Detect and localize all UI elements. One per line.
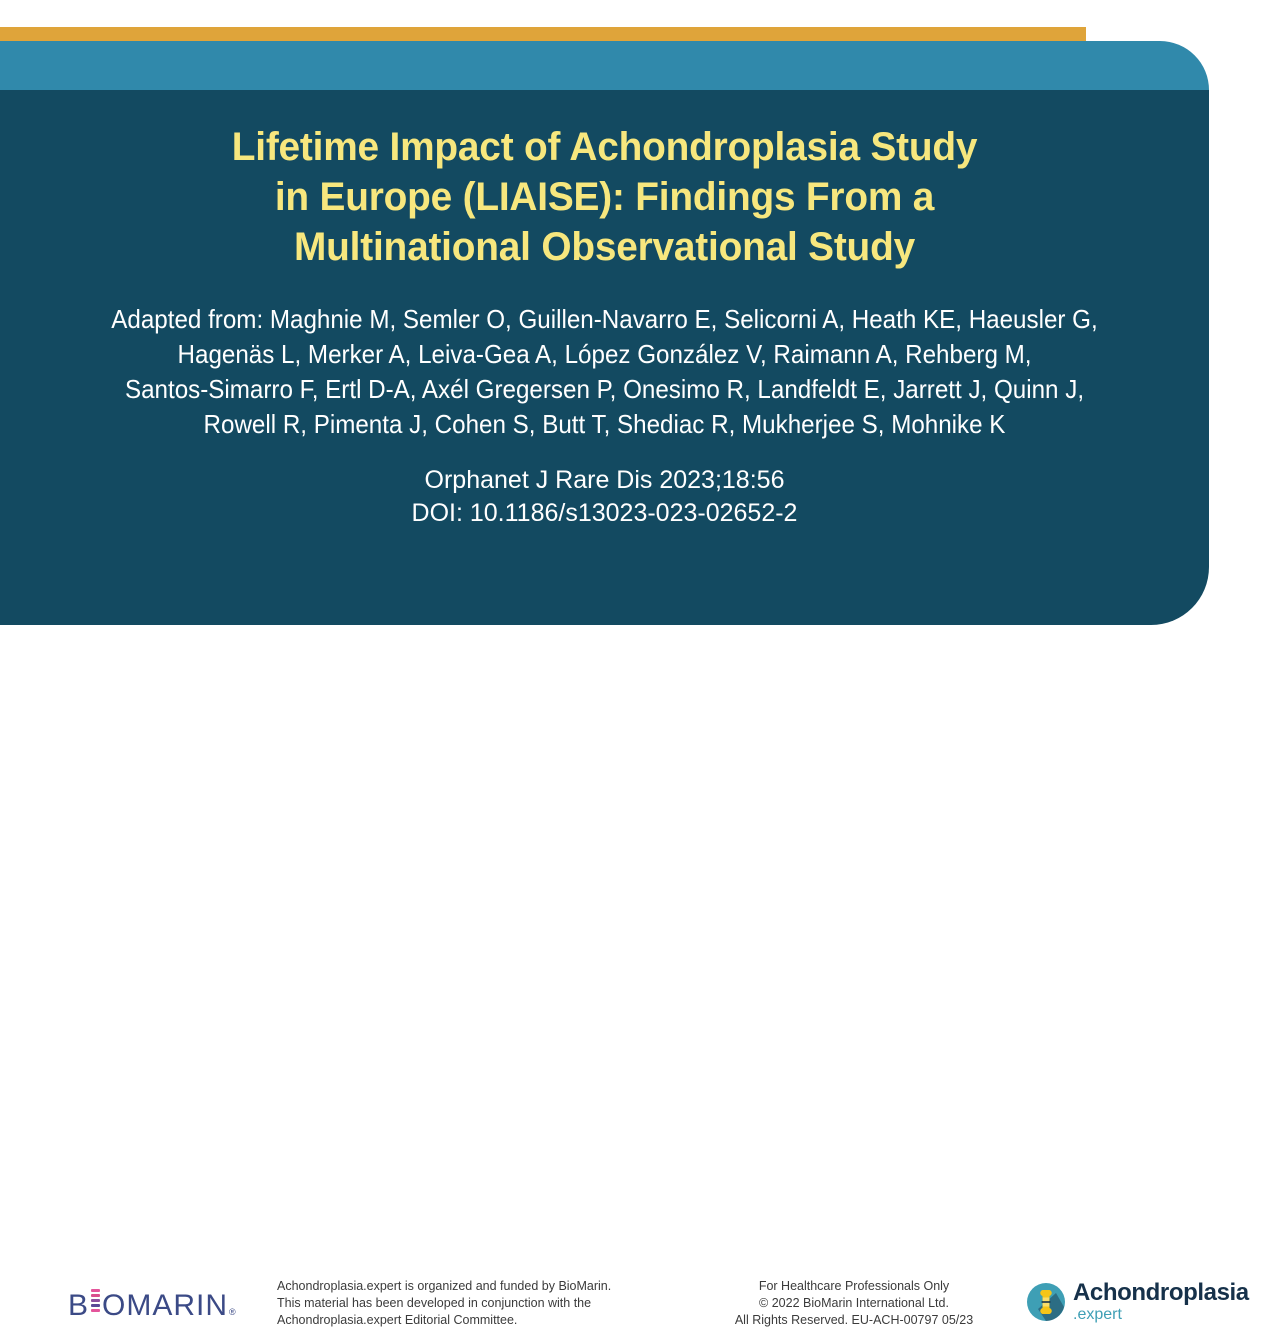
registered-trademark-icon: ®	[229, 1308, 237, 1317]
gold-accent-bar	[0, 27, 1086, 41]
author-line-1: Adapted from: Maghnie M, Semler O, Guill…	[80, 302, 1130, 337]
funding-line-1: Achondroplasia.expert is organized and f…	[277, 1278, 677, 1295]
achondroplasia-subdomain: .expert	[1073, 1306, 1124, 1323]
biomarin-logo: B OMARIN ®	[68, 1285, 253, 1325]
legal-line-2: © 2022 BioMarin International Ltd.	[700, 1295, 1008, 1312]
journal-citation: Orphanet J Rare Dis 2023;18:56 DOI: 10.1…	[40, 442, 1169, 530]
slide-footer: B OMARIN ® Achondroplasia.expert is orga…	[0, 630, 1280, 720]
title-line-2: in Europe (LIAISE): Findings From a	[57, 172, 1152, 222]
legal-statement: For Healthcare Professionals Only © 2022…	[700, 1278, 1008, 1329]
title-line-3: Multinational Observational Study	[57, 222, 1152, 272]
citation-journal: Orphanet J Rare Dis 2023;18:56	[40, 464, 1169, 497]
biomarin-wordmark: B OMARIN ®	[68, 1289, 237, 1321]
author-line-2: Hagenäs L, Merker A, Leiva-Gea A, López …	[80, 337, 1130, 372]
bone-in-circle-icon	[1026, 1282, 1066, 1322]
funding-line-2: This material has been developed in conj…	[277, 1295, 677, 1312]
slide-content: Lifetime Impact of Achondroplasia Study …	[0, 90, 1209, 625]
teal-header-band	[0, 41, 1209, 90]
biomarin-letters-omarin: OMARIN	[102, 1291, 228, 1321]
author-list: Adapted from: Maghnie M, Semler O, Guill…	[80, 272, 1130, 442]
stacked-dots-i-icon	[91, 1289, 100, 1315]
funding-line-3: Achondroplasia.expert Editorial Committe…	[277, 1312, 677, 1329]
legal-line-3: All Rights Reserved. EU-ACH-00797 05/23	[700, 1312, 1008, 1329]
funding-statement: Achondroplasia.expert is organized and f…	[277, 1278, 677, 1329]
author-line-4: Rowell R, Pimenta J, Cohen S, Butt T, Sh…	[80, 407, 1130, 442]
biomarin-letter-b: B	[68, 1291, 89, 1321]
achondroplasia-name: Achondroplasia	[1073, 1279, 1249, 1306]
author-line-3: Santos-Simarro F, Ertl D-A, Axél Gregers…	[80, 372, 1130, 407]
page-title: Lifetime Impact of Achondroplasia Study …	[57, 90, 1152, 272]
title-line-1: Lifetime Impact of Achondroplasia Study	[57, 122, 1152, 172]
achondroplasia-expert-logo: Achondroplasia .expert	[1026, 1280, 1241, 1330]
legal-line-1: For Healthcare Professionals Only	[700, 1278, 1008, 1295]
achondroplasia-wordmark: Achondroplasia .expert	[1073, 1280, 1241, 1324]
citation-doi: DOI: 10.1186/s13023-023-02652-2	[40, 497, 1169, 530]
